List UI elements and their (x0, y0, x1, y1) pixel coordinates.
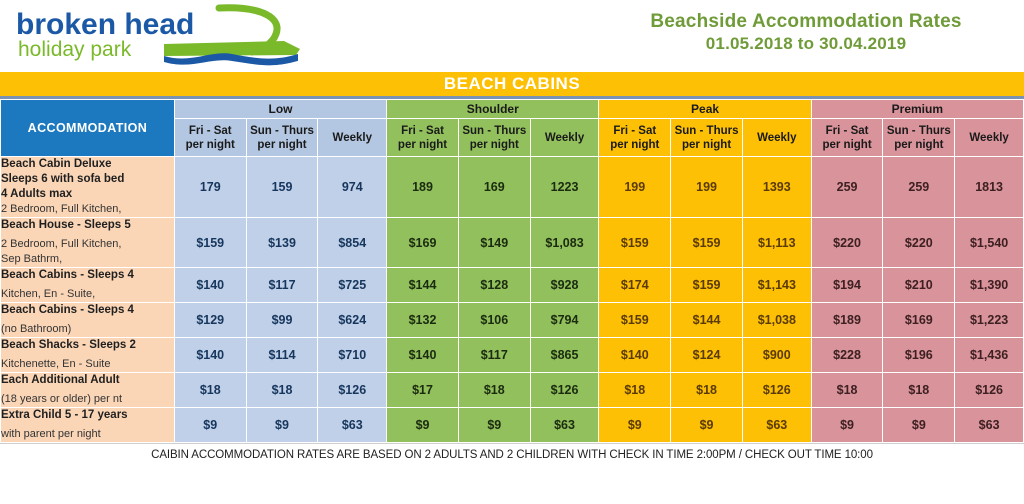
rate-cell: $63 (318, 408, 387, 443)
subheader-line2: per night (883, 138, 954, 152)
rate-cell: $9 (671, 408, 743, 443)
table-row: Beach Cabins - Sleeps 4(no Bathroom)$129… (1, 303, 1024, 338)
subheader-line2: per night (599, 138, 670, 152)
subheader-line1: Fri - Sat (175, 124, 246, 138)
subheader-line1: Fri - Sat (812, 124, 883, 138)
rate-cell: $159 (174, 218, 246, 268)
page-date-range: 01.05.2018 to 30.04.2019 (596, 33, 1016, 54)
rate-cell: $63 (742, 408, 811, 443)
rate-cell: $1,390 (955, 268, 1024, 303)
rate-cell: $63 (955, 408, 1024, 443)
rate-cell: 259 (811, 157, 883, 218)
rate-cell: $169 (387, 218, 459, 268)
accommodation-description: with parent per night (1, 427, 174, 442)
accommodation-cell: Beach Shacks - Sleeps 2Kitchenette, En -… (1, 338, 175, 373)
table-row: Beach Shacks - Sleeps 2Kitchenette, En -… (1, 338, 1024, 373)
rate-cell: $99 (246, 303, 318, 338)
rate-cell: $140 (387, 338, 459, 373)
rates-page: broken head holiday park Beachside Accom… (0, 0, 1024, 504)
rate-cell: $9 (458, 408, 530, 443)
rate-cell: 159 (246, 157, 318, 218)
subheader-line1: Fri - Sat (599, 124, 670, 138)
accommodation-description: 2 Bedroom, Full Kitchen, (1, 237, 174, 252)
subheader-low-fri-sat: Fri - Sat per night (174, 119, 246, 157)
rate-cell: $126 (530, 373, 599, 408)
rate-cell: $18 (811, 373, 883, 408)
rates-table: ACCOMMODATION Low Shoulder Peak Premium … (0, 99, 1024, 443)
rate-cell: 1813 (955, 157, 1024, 218)
rate-cell: $124 (671, 338, 743, 373)
rate-cell: $854 (318, 218, 387, 268)
rate-cell: $1,038 (742, 303, 811, 338)
rate-cell: $1,436 (955, 338, 1024, 373)
rate-cell: 199 (671, 157, 743, 218)
rate-cell: $144 (387, 268, 459, 303)
rate-cell: $9 (811, 408, 883, 443)
rate-cell: $174 (599, 268, 671, 303)
subheader-peak-weekly: Weekly (742, 119, 811, 157)
table-row: Beach Cabin DeluxeSleeps 6 with sofa bed… (1, 157, 1024, 218)
accommodation-cell: Beach Cabins - Sleeps 4Kitchen, En - Sui… (1, 268, 175, 303)
logo-wordmark-bottom: holiday park (18, 38, 132, 61)
brand-logo: broken head holiday park (14, 4, 314, 68)
rate-cell: $210 (883, 268, 955, 303)
rate-cell: $129 (174, 303, 246, 338)
accommodation-name: Beach House - Sleeps 5 (1, 218, 174, 233)
subheader-line1: Sun - Thurs (883, 124, 954, 138)
rate-cell: $140 (174, 338, 246, 373)
season-header-low: Low (174, 100, 386, 119)
accommodation-description: Kitchen, En - Suite, (1, 287, 174, 302)
accommodation-name: 4 Adults max (1, 187, 174, 202)
rate-cell: $18 (246, 373, 318, 408)
rate-cell: $196 (883, 338, 955, 373)
table-row: Extra Child 5 - 17 yearswith parent per … (1, 408, 1024, 443)
section-title-label: BEACH CABINS (444, 74, 580, 94)
subheader-low-sun-thurs: Sun - Thurs per night (246, 119, 318, 157)
table-row: Each Additional Adult(18 years or older)… (1, 373, 1024, 408)
season-header-premium: Premium (811, 100, 1023, 119)
accommodation-description: (18 years or older) per nt (1, 392, 174, 407)
subheader-line2: per night (175, 138, 246, 152)
rate-cell: $132 (387, 303, 459, 338)
accommodation-name: Each Additional Adult (1, 373, 174, 388)
rate-cell: $928 (530, 268, 599, 303)
rate-cell: $140 (599, 338, 671, 373)
footer-note-bar: CAIBIN ACCOMMODATION RATES ARE BASED ON … (0, 443, 1024, 465)
table-row: Beach Cabins - Sleeps 4Kitchen, En - Sui… (1, 268, 1024, 303)
accommodation-cell: Beach Cabin DeluxeSleeps 6 with sofa bed… (1, 157, 175, 218)
rate-cell: $169 (883, 303, 955, 338)
accommodation-cell: Beach Cabins - Sleeps 4(no Bathroom) (1, 303, 175, 338)
accommodation-name: Sleeps 6 with sofa bed (1, 172, 174, 187)
accommodation-description: Kitchenette, En - Suite (1, 357, 174, 372)
rate-cell: $106 (458, 303, 530, 338)
rate-cell: $228 (811, 338, 883, 373)
accommodation-name: Extra Child 5 - 17 years (1, 408, 174, 423)
rate-cell: $9 (883, 408, 955, 443)
rate-cell: $189 (811, 303, 883, 338)
accommodation-name: Beach Cabins - Sleeps 4 (1, 268, 174, 283)
table-body: Beach Cabin DeluxeSleeps 6 with sofa bed… (1, 157, 1024, 443)
rate-cell: $159 (671, 268, 743, 303)
rate-cell: $865 (530, 338, 599, 373)
subheader-line1: Sun - Thurs (459, 124, 530, 138)
page-banner: broken head holiday park Beachside Accom… (0, 0, 1024, 72)
rate-cell: 199 (599, 157, 671, 218)
rate-cell: 974 (318, 157, 387, 218)
accommodation-cell: Beach House - Sleeps 52 Bedroom, Full Ki… (1, 218, 175, 268)
rate-cell: 1223 (530, 157, 599, 218)
rate-cell: $144 (671, 303, 743, 338)
subheader-line2: per night (671, 138, 742, 152)
page-title-block: Beachside Accommodation Rates 01.05.2018… (596, 10, 1016, 54)
subheader-peak-fri-sat: Fri - Sat per night (599, 119, 671, 157)
subheader-line1: Fri - Sat (387, 124, 458, 138)
rate-cell: $17 (387, 373, 459, 408)
accommodation-description: 2 Bedroom, Full Kitchen, (1, 202, 174, 217)
rate-cell: $128 (458, 268, 530, 303)
rate-cell: $1,083 (530, 218, 599, 268)
subheader-line1: Weekly (743, 131, 811, 145)
rate-cell: 1393 (742, 157, 811, 218)
rate-cell: $725 (318, 268, 387, 303)
section-title-bar: BEACH CABINS (0, 72, 1024, 99)
rate-cell: $1,143 (742, 268, 811, 303)
footer-note: CAIBIN ACCOMMODATION RATES ARE BASED ON … (151, 449, 873, 461)
subheader-peak-sun-thurs: Sun - Thurs per night (671, 119, 743, 157)
rate-cell: $159 (599, 218, 671, 268)
rate-cell: $114 (246, 338, 318, 373)
subheader-line1: Sun - Thurs (671, 124, 742, 138)
rate-cell: $18 (883, 373, 955, 408)
rate-cell: $194 (811, 268, 883, 303)
rate-cell: $18 (599, 373, 671, 408)
subheader-shoulder-fri-sat: Fri - Sat per night (387, 119, 459, 157)
page-title: Beachside Accommodation Rates (596, 10, 1016, 33)
rate-cell: $63 (530, 408, 599, 443)
accommodation-description: Sep Bathrm, (1, 252, 174, 267)
accommodation-description: (no Bathroom) (1, 322, 174, 337)
rate-cell: $149 (458, 218, 530, 268)
rate-cell: $1,223 (955, 303, 1024, 338)
subheader-low-weekly: Weekly (318, 119, 387, 157)
subheader-shoulder-sun-thurs: Sun - Thurs per night (458, 119, 530, 157)
rate-cell: $900 (742, 338, 811, 373)
rate-cell: $126 (955, 373, 1024, 408)
rate-cell: $710 (318, 338, 387, 373)
subheader-premium-fri-sat: Fri - Sat per night (811, 119, 883, 157)
rate-cell: $624 (318, 303, 387, 338)
subheader-line2: per night (812, 138, 883, 152)
rate-cell: $1,540 (955, 218, 1024, 268)
logo-wordmark-top: broken head (16, 8, 194, 41)
accommodation-header: ACCOMMODATION (1, 100, 175, 157)
subheader-line2: per night (247, 138, 318, 152)
rate-cell: $220 (811, 218, 883, 268)
accommodation-cell: Each Additional Adult(18 years or older)… (1, 373, 175, 408)
table-row: Beach House - Sleeps 52 Bedroom, Full Ki… (1, 218, 1024, 268)
subheader-shoulder-weekly: Weekly (530, 119, 599, 157)
rate-cell: 169 (458, 157, 530, 218)
table-head: ACCOMMODATION Low Shoulder Peak Premium … (1, 100, 1024, 157)
rate-cell: 259 (883, 157, 955, 218)
rate-cell: $126 (318, 373, 387, 408)
rate-cell: $9 (246, 408, 318, 443)
rate-cell: $139 (246, 218, 318, 268)
subheader-line1: Weekly (318, 131, 386, 145)
rate-cell: $159 (599, 303, 671, 338)
rate-cell: $794 (530, 303, 599, 338)
subheader-line2: per night (387, 138, 458, 152)
rate-cell: $9 (174, 408, 246, 443)
accommodation-name: Beach Cabins - Sleeps 4 (1, 303, 174, 318)
rate-cell: $18 (458, 373, 530, 408)
rate-cell: $18 (671, 373, 743, 408)
rate-cell: 189 (387, 157, 459, 218)
rate-cell: $117 (458, 338, 530, 373)
rate-cell: $159 (671, 218, 743, 268)
rate-cell: $117 (246, 268, 318, 303)
rate-cell: 179 (174, 157, 246, 218)
season-header-row: ACCOMMODATION Low Shoulder Peak Premium (1, 100, 1024, 119)
subheader-line1: Weekly (955, 131, 1023, 145)
season-header-peak: Peak (599, 100, 811, 119)
season-header-shoulder: Shoulder (387, 100, 599, 119)
rate-cell: $126 (742, 373, 811, 408)
accommodation-cell: Extra Child 5 - 17 yearswith parent per … (1, 408, 175, 443)
subheader-line1: Weekly (531, 131, 599, 145)
accommodation-name: Beach Cabin Deluxe (1, 157, 174, 172)
accommodation-name: Beach Shacks - Sleeps 2 (1, 338, 174, 353)
rate-cell: $140 (174, 268, 246, 303)
rate-cell: $1,113 (742, 218, 811, 268)
subheader-line2: per night (459, 138, 530, 152)
rate-cell: $9 (599, 408, 671, 443)
rate-cell: $220 (883, 218, 955, 268)
subheader-line1: Sun - Thurs (247, 124, 318, 138)
subheader-premium-weekly: Weekly (955, 119, 1024, 157)
rate-cell: $9 (387, 408, 459, 443)
rate-cell: $18 (174, 373, 246, 408)
subheader-premium-sun-thurs: Sun - Thurs per night (883, 119, 955, 157)
